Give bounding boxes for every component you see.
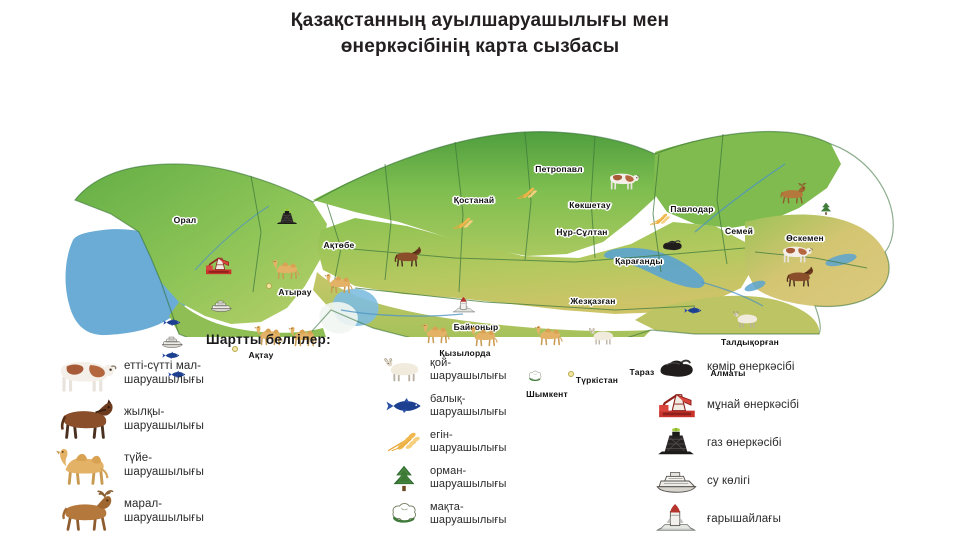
- cotton-icon: [378, 498, 430, 530]
- wheat-icon: [450, 214, 476, 239]
- city-label[interactable]: Нұр-Сұлтан: [556, 227, 607, 237]
- legend-item[interactable]: мұнай өнеркәсібі: [645, 386, 945, 423]
- fish-icon: [682, 304, 704, 323]
- legend-item-label: көмір өнеркәсібі: [707, 360, 795, 374]
- rocket-icon: [451, 293, 477, 324]
- legend-column-livestock: етті-сүтті мал- шаруашылығы жылқы- шаруа…: [46, 350, 346, 534]
- map-base-svg: [55, 72, 945, 337]
- camel-icon: [533, 323, 567, 352]
- page-title: Қазақстанның ауылшаруашылығы мен өнеркәс…: [0, 8, 960, 60]
- city-label[interactable]: Қостанай: [454, 195, 495, 205]
- fir-tree-icon: [378, 462, 430, 494]
- kazakhstan-map[interactable]: ОралАқтөбеАтырауАқтауҚостанайПетропавлКө…: [55, 72, 945, 337]
- camel-icon: [420, 321, 454, 350]
- coal-icon: [645, 350, 707, 384]
- horse-icon: [46, 397, 124, 441]
- legend-item[interactable]: түйе- шаруашылығы: [46, 442, 346, 487]
- legend-item-label: қой- шаруашылығы: [430, 357, 507, 384]
- deer-icon: [776, 181, 808, 212]
- legend-item[interactable]: мақта- шаруашылығы: [378, 496, 628, 532]
- legend-item-label: түйе- шаруашылығы: [124, 451, 204, 479]
- legend-column-agriculture: қой- шаруашылығы балық- шаруашылығы: [378, 352, 628, 532]
- city-label[interactable]: Орал: [174, 215, 197, 225]
- horse-icon: [783, 265, 815, 294]
- sheep-icon: [732, 309, 762, 336]
- legend-item-label: газ өнеркәсібі: [707, 436, 782, 450]
- legend-item[interactable]: орман- шаруашылығы: [378, 460, 628, 496]
- wheat-icon: [647, 210, 673, 235]
- oil-derrick-icon: [645, 388, 707, 422]
- city-label[interactable]: Атырау: [278, 287, 311, 297]
- legend-item-label: мақта- шаруашылығы: [430, 501, 507, 528]
- ship-icon: [645, 464, 707, 498]
- fish-icon: [378, 390, 430, 422]
- legend-item[interactable]: қой- шаруашылығы: [378, 352, 628, 388]
- city-label[interactable]: Петропавл: [535, 164, 582, 174]
- sheep-icon: [588, 326, 618, 353]
- legend-item[interactable]: марал- шаруашылығы: [46, 488, 346, 533]
- camel-icon: [270, 257, 304, 286]
- coal-icon: [659, 236, 685, 259]
- cow-icon: [46, 351, 124, 395]
- deer-icon: [46, 489, 124, 533]
- fir-tree-icon: [816, 197, 836, 226]
- ship-icon: [208, 298, 234, 319]
- legend-item-label: орман- шаруашылығы: [430, 465, 507, 492]
- city-label[interactable]: Жезқазған: [570, 296, 615, 306]
- legend-item[interactable]: газ өнеркәсібі: [645, 424, 945, 461]
- legend-item[interactable]: ғарышайлағы: [645, 500, 945, 537]
- legend-item-label: мұнай өнеркәсібі: [707, 398, 799, 412]
- sheep-icon: [378, 354, 430, 386]
- legend-column-industry: көмір өнеркәсібі мұнай өнеркәсібі: [645, 348, 945, 538]
- city-label[interactable]: Талдықорған: [721, 337, 779, 347]
- legend-item[interactable]: жылқы- шаруашылығы: [46, 396, 346, 441]
- legend-item-label: етті-сүтті мал- шаруашылығы: [124, 359, 204, 387]
- legend-item[interactable]: егін- шаруашылығы: [378, 424, 628, 460]
- legend-item[interactable]: етті-сүтті мал- шаруашылығы: [46, 350, 346, 395]
- city-label[interactable]: Семей: [725, 226, 753, 236]
- camel-icon: [468, 324, 502, 353]
- rocket-icon: [645, 502, 707, 536]
- city-label[interactable]: Қарағанды: [615, 256, 663, 266]
- wheat-icon: [514, 184, 540, 209]
- page-title-line2: өнеркәсібінің карта сызбасы: [0, 34, 960, 60]
- map-page: Қазақстанның ауылшаруашылығы мен өнеркәс…: [0, 0, 960, 540]
- camel-icon: [46, 443, 124, 487]
- city-label[interactable]: Павлодар: [670, 204, 713, 214]
- legend-item-label: су көлігі: [707, 474, 750, 488]
- legend-item-label: жылқы- шаруашылығы: [124, 405, 204, 433]
- wheat-icon: [378, 426, 430, 458]
- legend-item[interactable]: көмір өнеркәсібі: [645, 348, 945, 385]
- legend-item-label: балық- шаруашылығы: [430, 393, 507, 420]
- oil-derrick-icon: [202, 255, 234, 282]
- legend-item[interactable]: балық- шаруашылығы: [378, 388, 628, 424]
- legend-item-label: марал- шаруашылығы: [124, 497, 204, 525]
- gas-tower-icon: [274, 205, 300, 236]
- legend-item[interactable]: су көлігі: [645, 462, 945, 499]
- legend-heading: Шартты белгілер:: [206, 332, 331, 347]
- legend-item-label: ғарышайлағы: [707, 512, 781, 526]
- legend-item-label: егін- шаруашылығы: [430, 429, 507, 456]
- gas-tower-icon: [645, 426, 707, 460]
- kazakhstan-east-region: [745, 215, 889, 307]
- camel-icon: [323, 271, 357, 300]
- city-label[interactable]: Көкшетау: [569, 200, 611, 210]
- horse-icon: [391, 245, 423, 274]
- page-title-line1: Қазақстанның ауылшаруашылығы мен: [291, 10, 669, 31]
- fish-icon: [161, 316, 183, 335]
- cow-icon: [606, 168, 640, 197]
- city-label[interactable]: Ақтөбе: [324, 240, 355, 250]
